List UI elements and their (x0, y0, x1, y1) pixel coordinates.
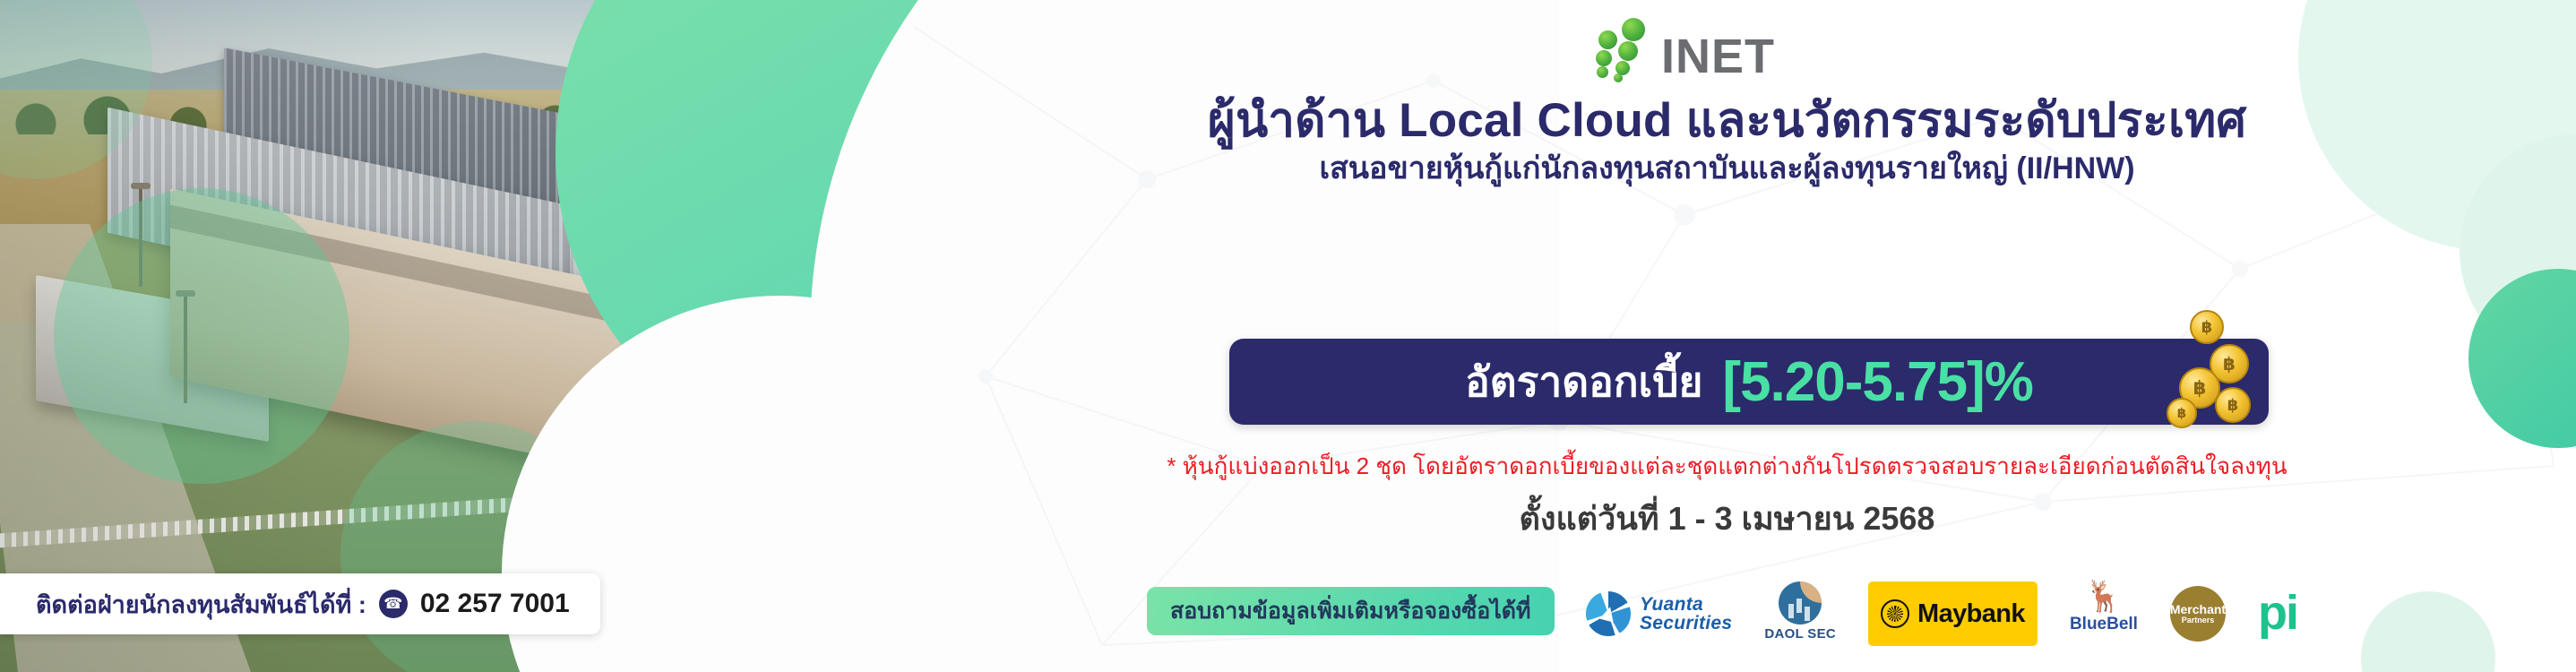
partner-logo-daol[interactable]: DAOL SEC (1764, 582, 1836, 646)
merchant-line1: Merchant (2170, 603, 2226, 616)
partner-logo-bluebell[interactable]: 🦌 BlueBell (2070, 582, 2138, 646)
cta-inquiry-button[interactable]: สอบถามข้อมูลเพิ่มเติมหรือจองซื้อได้ที่ (1147, 587, 1555, 635)
investor-relations-contact[interactable]: ติดต่อฝ่ายนักลงทุนสัมพันธ์ได้ที่ : ☎ 02 … (0, 573, 600, 634)
bluebell-deer-logo-icon: 🦌 (2085, 582, 2123, 612)
daol-logo-icon (1779, 582, 1822, 625)
interest-rate-label: อัตราดอกเบี้ย (1465, 349, 1702, 415)
bluebell-logo-text: BlueBell (2070, 615, 2138, 634)
footnote-disclaimer: * หุ้นกู้แบ่งออกเป็น 2 ชุด โดยอัตราดอกเบ… (878, 448, 2576, 485)
partner-logo-yuanta[interactable]: Yuanta Securities (1586, 582, 1732, 646)
daol-logo-text: DAOL SEC (1764, 626, 1836, 642)
content-panel: INET ผู้นำด้าน Local Cloud และนวัตกรรมระ… (878, 0, 2576, 672)
phone-icon: ☎ (379, 590, 408, 618)
interest-rate-banner: อัตราดอกเบี้ย [5.20-5.75]% ฿ ฿ ฿ ฿ ฿ (1229, 339, 2269, 425)
partner-logo-maybank[interactable]: Maybank (1868, 582, 2038, 646)
yuanta-line1: Yuanta (1640, 595, 1732, 614)
yuanta-logo-icon (1586, 591, 1631, 636)
yuanta-line2: Securities (1640, 614, 1732, 633)
page-subtitle: เสนอขายหุ้นกู้แก่นักลงทุนสถาบันและผู้ลงท… (878, 143, 2576, 192)
maybank-tiger-logo-icon (1881, 599, 1909, 628)
partner-logos-row: Yuanta Securities DAOL SEC Maybank 🦌 Blu… (1586, 578, 2297, 650)
inet-promotional-banner: INET ผู้นำด้าน Local Cloud และนวัตกรรมระ… (0, 0, 2576, 672)
inet-dots-logo (1586, 16, 1656, 81)
yuanta-logo-text: Yuanta Securities (1640, 595, 1732, 633)
inet-logo: INET (1586, 16, 1775, 81)
interest-rate-value: [5.20-5.75]% (1722, 350, 2032, 414)
merchant-line2: Partners (2182, 616, 2215, 625)
contact-phone-number[interactable]: 02 257 7001 (420, 589, 570, 619)
pi-logo-text: pi (2258, 593, 2297, 634)
contact-label: ติดต่อฝ่ายนักลงทุนสัมพันธ์ได้ที่ : (36, 585, 366, 624)
partner-logo-pi[interactable]: pi (2258, 582, 2297, 646)
inet-logo-text: INET (1661, 32, 1775, 81)
merchant-partners-logo-icon: Merchant Partners (2170, 586, 2226, 642)
partner-logo-merchant-partners[interactable]: Merchant Partners (2170, 582, 2226, 646)
gold-coins-icon: ฿ ฿ ฿ ฿ ฿ (2158, 308, 2292, 443)
maybank-logo-text: Maybank (1917, 599, 2025, 629)
offering-date-range: ตั้งแต่วันที่ 1 - 3 เมษายน 2568 (878, 493, 2576, 544)
